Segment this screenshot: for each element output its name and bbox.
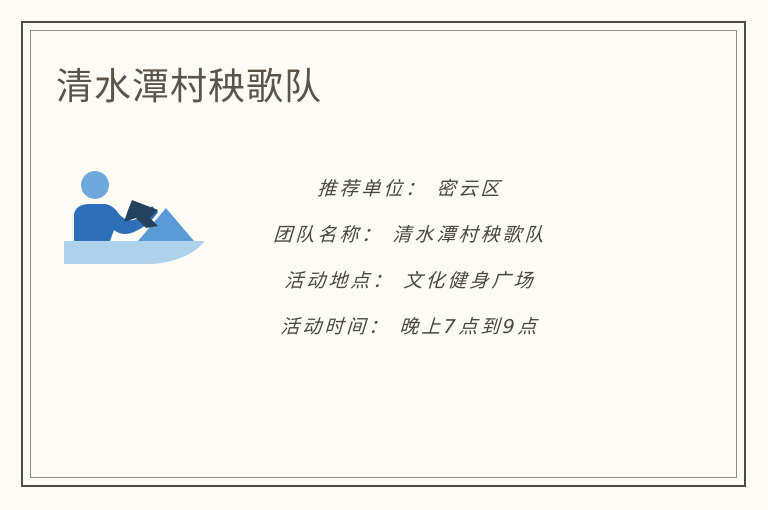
boat-base-shape (64, 241, 205, 264)
dancer-head-shape (81, 171, 109, 199)
info-line-recommending-unit: 推荐单位： 密云区 (199, 166, 621, 212)
page-title: 清水潭村秧歌队 (56, 64, 322, 110)
yangge-dancer-illustration (62, 168, 207, 268)
info-card: 清水潭村秧歌队 推荐单位： 密云区 团队名称： 清水潭村秧歌队 活动地点： 文化… (0, 0, 768, 510)
info-line-activity-location: 活动地点： 文化健身广场 (199, 258, 621, 304)
info-list: 推荐单位： 密云区 团队名称： 清水潭村秧歌队 活动地点： 文化健身广场 活动时… (200, 166, 620, 350)
info-line-team-name: 团队名称： 清水潭村秧歌队 (199, 212, 621, 258)
info-line-activity-time: 活动时间： 晚上7点到9点 (199, 304, 621, 350)
